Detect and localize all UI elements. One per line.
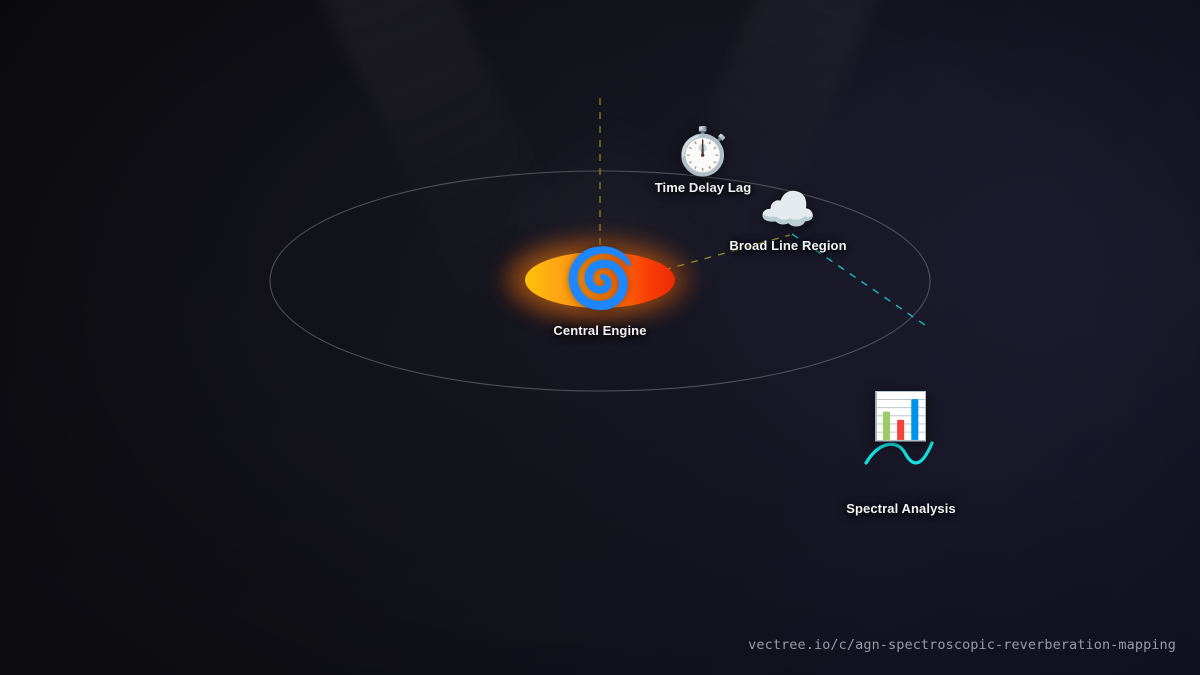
cloud-icon: ☁️ bbox=[718, 186, 858, 232]
source-url: vectree.io/c/agn-spectroscopic-reverbera… bbox=[748, 637, 1176, 653]
central-engine-node[interactable]: 🌀 bbox=[525, 252, 675, 308]
bar-chart-icon: 📊 bbox=[831, 393, 971, 439]
broad-line-region-node[interactable]: ☁️ Broad Line Region bbox=[718, 186, 858, 253]
spectral-analysis-node[interactable]: 📊 Spectral Analysis bbox=[831, 393, 971, 516]
time-delay-lag-node[interactable]: ⏱️ Time Delay Lag bbox=[633, 128, 773, 195]
spiral-galaxy-icon: 🌀 bbox=[564, 250, 636, 308]
slide-canvas: 🌀 Central Engine ⏱️ Time Delay Lag ☁️ Br… bbox=[0, 0, 1200, 675]
central-engine-label: Central Engine bbox=[495, 323, 705, 338]
spectral-analysis-label: Spectral Analysis bbox=[831, 501, 971, 516]
broad-line-region-label: Broad Line Region bbox=[718, 238, 858, 253]
stopwatch-icon: ⏱️ bbox=[633, 128, 773, 174]
